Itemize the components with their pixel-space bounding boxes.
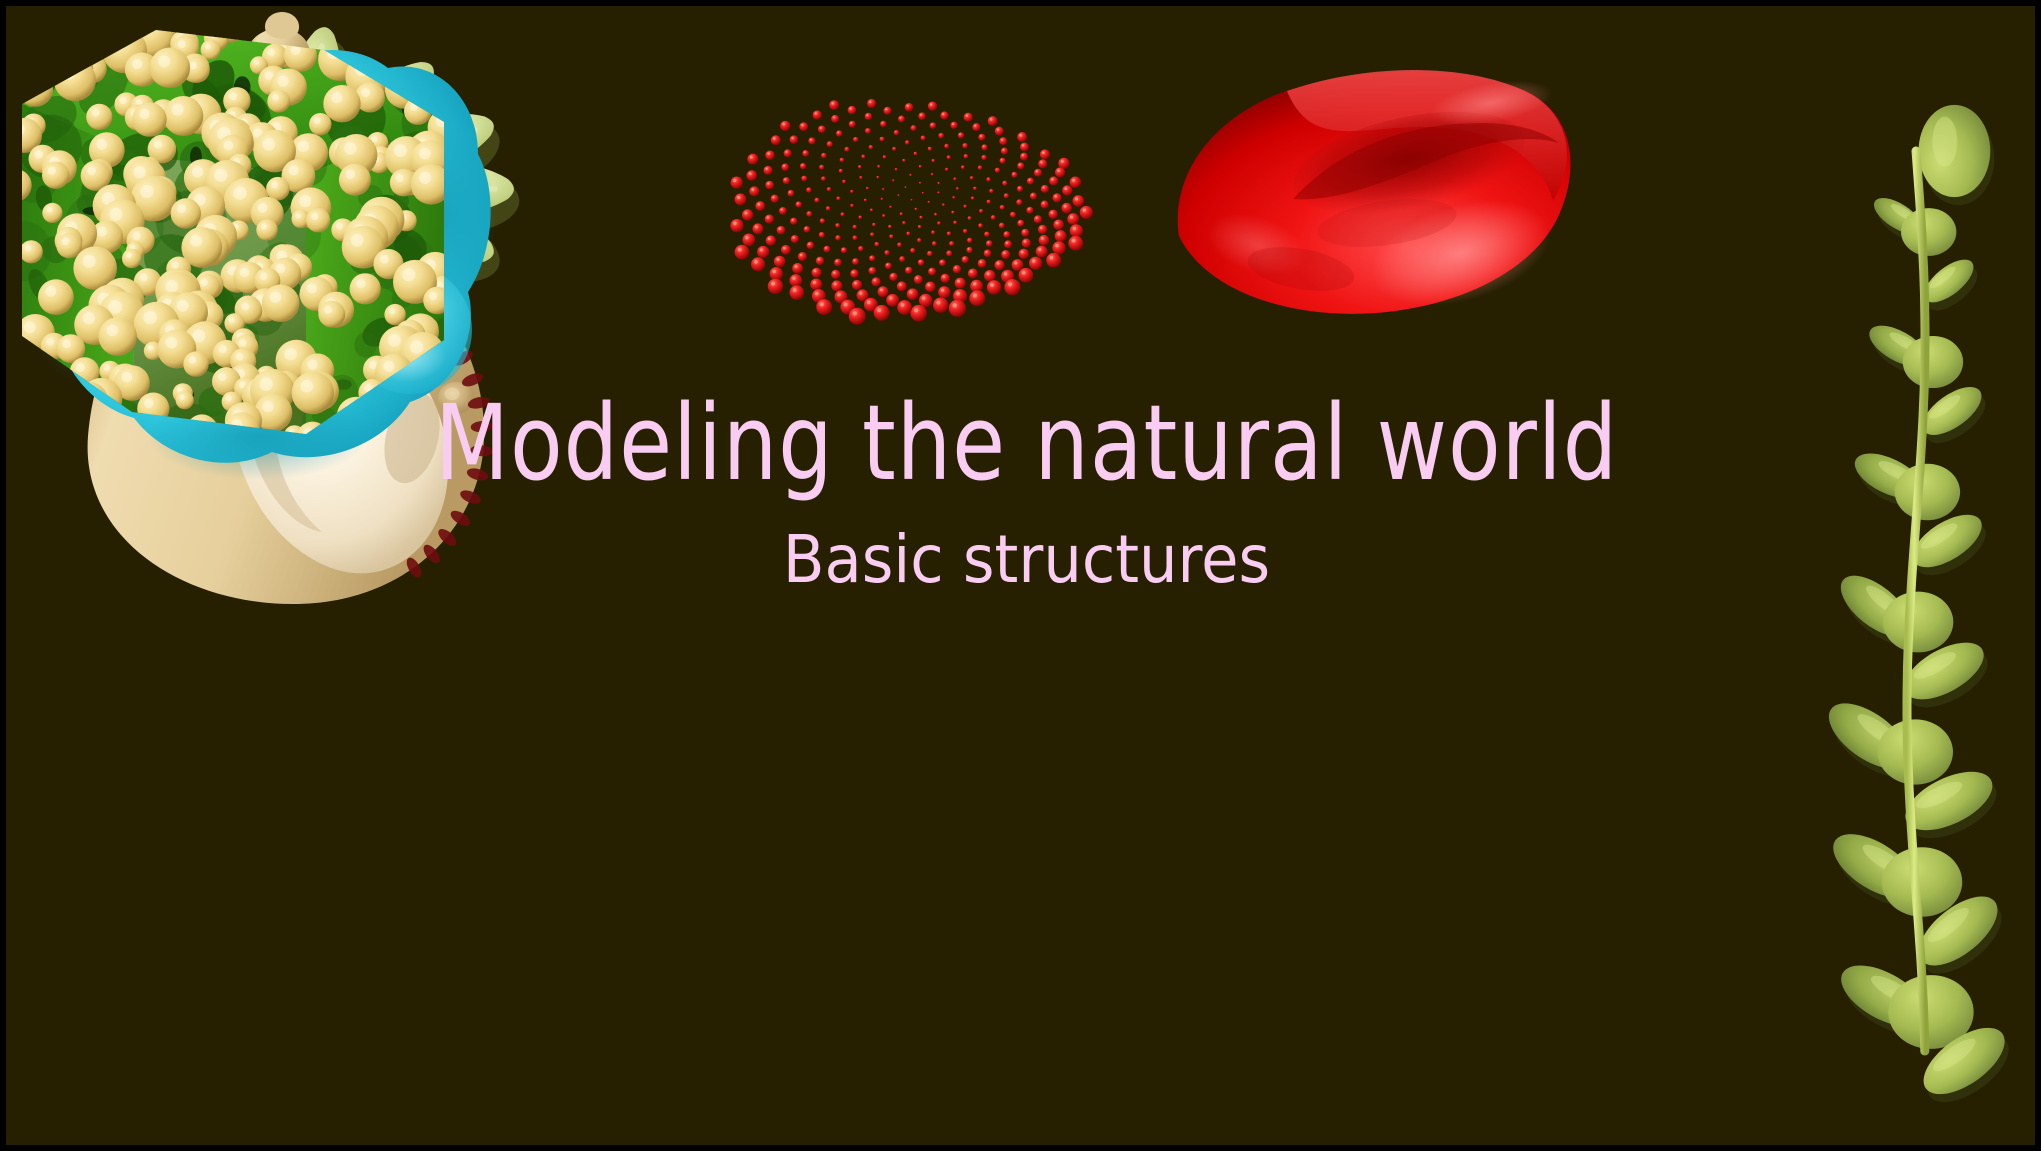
phyllotaxis-sphere-highlight (800, 254, 802, 256)
phyllotaxis-sphere (735, 194, 747, 206)
phyllotaxis-sphere (1029, 257, 1042, 270)
phyllotaxis-sphere-highlight (767, 216, 769, 218)
cube-sphere (67, 12, 98, 43)
phyllotaxis-sphere-highlight (900, 117, 902, 119)
phyllotaxis-sphere (1004, 279, 1020, 295)
phyllotaxis-sphere-highlight (776, 258, 779, 261)
cube-sphere-highlight (372, 29, 380, 37)
cube-sphere-highlight (299, 195, 311, 207)
phyllotaxis-sphere (821, 176, 826, 181)
phyllotaxis-sphere (802, 150, 809, 157)
cube-sphere-highlight (409, 46, 417, 54)
phyllotaxis-sphere (905, 267, 912, 274)
cube-sphere-highlight (400, 21, 409, 30)
phyllotaxis-sphere (910, 248, 915, 253)
phyllotaxis-sphere (871, 277, 880, 286)
phyllotaxis-sphere-highlight (870, 268, 872, 270)
phyllotaxis-sphere (861, 155, 865, 159)
cube-sphere-highlight (44, 33, 51, 40)
phyllotaxis-sphere-highlight (750, 156, 753, 159)
phyllotaxis-sphere (944, 144, 949, 149)
cube-sphere-highlight (393, 77, 405, 89)
phyllotaxis-sphere-highlight (866, 114, 868, 116)
phyllotaxis-sphere (799, 122, 808, 131)
cube-sphere-highlight (96, 139, 107, 150)
phyllotaxis-sphere (931, 173, 934, 176)
phyllotaxis-sphere-highlight (957, 280, 960, 283)
phyllotaxis-sphere-highlight (854, 260, 856, 262)
cube-sphere (262, 284, 300, 322)
phyllotaxis-sphere (1011, 172, 1017, 178)
phyllotaxis-sphere-highlight (1055, 244, 1058, 247)
phyllotaxis-sphere (898, 116, 905, 123)
phyllotaxis-sphere-highlight (751, 188, 754, 191)
phyllotaxis-sphere (859, 216, 862, 219)
cube-sphere (348, 27, 368, 47)
phyllotaxis-sphere-highlight (909, 291, 912, 294)
phyllotaxis-sphere (813, 110, 822, 119)
phyllotaxis-sphere (886, 294, 899, 307)
phyllotaxis-sphere (962, 143, 967, 148)
phyllotaxis-sphere-highlight (1075, 198, 1078, 201)
cube-sphere-highlight (60, 55, 73, 68)
cube-sphere (419, 377, 455, 413)
cube-sphere-highlight (258, 203, 268, 213)
phyllotaxis-sphere-highlight (783, 165, 785, 167)
phyllotaxis-sphere (730, 219, 743, 232)
phyllotaxis-sphere-highlight (813, 281, 816, 284)
cube-sphere-highlight (300, 380, 313, 393)
phyllotaxis-sphere-highlight (959, 133, 961, 135)
phyllotaxis-sphere (781, 163, 789, 171)
phyllotaxis-sphere (1010, 212, 1016, 218)
phyllotaxis-sphere (771, 135, 781, 145)
cube-sphere-highlight (432, 414, 445, 427)
phyllotaxis-sphere-highlight (853, 311, 857, 315)
cube-pore (20, 374, 61, 414)
phyllotaxis-sphere (931, 231, 935, 235)
cube-sphere-highlight (331, 92, 342, 103)
phyllotaxis-sphere-highlight (791, 137, 793, 139)
cube-sphere (18, 71, 54, 107)
phyllotaxis-sphere (765, 181, 774, 190)
phyllotaxis-sphere (881, 198, 883, 200)
cube-sphere-highlight (10, 59, 23, 72)
phyllotaxis-sphere (995, 168, 1000, 173)
cube-sphere-highlight (114, 424, 124, 434)
cube-sphere-highlight (140, 22, 153, 35)
phyllotaxis-sphere (945, 168, 948, 171)
cube-sphere-highlight (291, 45, 301, 55)
phyllotaxis-sphere (919, 216, 922, 219)
cube-sphere (1, 382, 33, 414)
cube-sphere-highlight (172, 261, 179, 268)
cube-pore (390, 44, 437, 92)
phyllotaxis-sphere (841, 247, 847, 253)
phyllotaxis-sphere (928, 147, 932, 151)
cube-sphere (20, 240, 43, 263)
phyllotaxis-sphere (1001, 148, 1008, 155)
phyllotaxis-sphere (981, 155, 986, 160)
cube-sphere-highlight (307, 360, 317, 370)
phyllotaxis-sphere (869, 255, 875, 261)
cube-sphere (419, 58, 462, 101)
phyllotaxis-sphere-highlight (1019, 134, 1022, 137)
cube-sphere (50, 417, 71, 438)
cube-sphere-highlight (205, 44, 211, 50)
cube-sphere-highlight (25, 78, 36, 89)
cube-sphere-highlight (108, 300, 122, 314)
cube-sphere-highlight (261, 223, 267, 229)
phyllotaxis-sphere-highlight (810, 139, 812, 141)
phyllotaxis-sphere-highlight (1018, 187, 1020, 189)
phyllotaxis-sphere-highlight (837, 132, 839, 134)
phyllotaxis-sphere (874, 242, 879, 247)
phyllotaxis-sphere-highlight (854, 282, 857, 285)
cube-sphere (55, 418, 80, 443)
phyllotaxis-sphere-highlight (745, 236, 748, 239)
phyllotaxis-sphere-highlight (955, 267, 957, 269)
phyllotaxis-sphere (1068, 236, 1083, 251)
cube-sphere (386, 14, 411, 39)
cube-sphere (256, 219, 277, 240)
phyllotaxis-sphere-highlight (768, 237, 771, 240)
cube-pore (430, 366, 454, 391)
cube-sphere-highlight (158, 55, 170, 67)
phyllotaxis-sphere (907, 288, 919, 300)
phyllotaxis-sphere-highlight (889, 296, 892, 299)
cube-sphere (334, 411, 372, 449)
phyllotaxis-sphere (783, 177, 790, 184)
cube-sphere-highlight (63, 53, 71, 61)
phyllotaxis-sphere-highlight (887, 264, 889, 266)
cube-sphere (121, 424, 143, 446)
phyllotaxis-sphere (768, 279, 783, 294)
cube-sphere (224, 412, 260, 448)
phyllotaxis-sphere (788, 190, 795, 197)
cube-sphere-highlight (289, 165, 299, 175)
cube-sphere-highlight (144, 399, 154, 409)
phyllotaxis-sphere-highlight (805, 227, 807, 229)
phyllotaxis-sphere-highlight (1001, 159, 1003, 161)
phyllotaxis-sphere (829, 100, 839, 110)
cube-sphere-highlight (97, 227, 107, 237)
cube-sphere-highlight (327, 46, 340, 59)
cube-sphere-highlight (189, 356, 197, 364)
cube-sphere-highlight (361, 88, 370, 97)
cube-sphere-highlight (295, 213, 301, 219)
cube-sphere-highlight (25, 245, 32, 252)
phyllotaxis-sphere (853, 137, 858, 142)
phyllotaxis-sphere (801, 176, 807, 182)
phyllotaxis-sphere (1039, 235, 1050, 246)
phyllotaxis-sphere (911, 125, 917, 131)
cube-sphere-highlight (307, 283, 317, 293)
phyllotaxis-sphere (979, 209, 983, 213)
cube-sphere (318, 301, 345, 328)
phyllotaxis-sphere-highlight (990, 118, 993, 121)
phyllotaxis-sphere (827, 141, 833, 147)
phyllotaxis-sphere (878, 286, 889, 297)
cube-pore (0, 365, 51, 404)
phyllotaxis-sphere (839, 169, 843, 173)
phyllotaxis-sphere (1017, 162, 1024, 169)
phyllotaxis-sphere-highlight (997, 128, 999, 130)
cube-sphere-highlight (107, 325, 119, 337)
cube-sphere-highlight (119, 420, 129, 430)
phyllotaxis-sphere (747, 154, 758, 165)
phyllotaxis-sphere (790, 135, 798, 143)
phyllotaxis-sphere (867, 99, 876, 108)
cube-sphere-highlight (122, 372, 133, 383)
phyllotaxis-sphere (1067, 213, 1079, 225)
cube-sphere (372, 13, 401, 42)
phyllotaxis-sphere-highlight (772, 196, 774, 198)
phyllotaxis-sphere-highlight (874, 279, 876, 281)
phyllotaxis-sphere (918, 259, 924, 265)
phyllotaxis-sphere (897, 242, 902, 247)
phyllotaxis-sphere (735, 245, 750, 260)
cube-sphere (296, 422, 328, 454)
phyllotaxis-sphere (1070, 224, 1083, 237)
phyllotaxis-sphere (928, 201, 930, 203)
phyllotaxis-sphere (882, 188, 884, 190)
cube-sphere-highlight (154, 429, 161, 436)
phyllotaxis-sphere-highlight (1005, 232, 1007, 234)
cube-sphere (423, 287, 451, 315)
phyllotaxis-sphere (877, 176, 880, 179)
phyllotaxis-sphere-highlight (1038, 248, 1041, 251)
phyllotaxis-sphere (921, 136, 926, 141)
phyllotaxis-sphere (938, 133, 944, 139)
phyllotaxis-sphere-highlight (801, 124, 803, 126)
cube-sphere-highlight (108, 424, 122, 438)
phyllotaxis-sphere (900, 212, 903, 215)
phyllotaxis-sphere-highlight (877, 308, 881, 312)
cube-sphere-highlight (352, 31, 358, 37)
phyllotaxis-sphere (883, 107, 891, 115)
cube-sphere (42, 203, 62, 223)
cube-sphere (42, 162, 69, 189)
phyllotaxis-sphere-highlight (1061, 160, 1064, 163)
cube-sphere (358, 21, 396, 59)
phyllotaxis-sphere (978, 134, 985, 141)
phyllotaxis-sphere (999, 223, 1005, 229)
phyllotaxis-sphere (765, 214, 774, 223)
phyllotaxis-sphere (749, 186, 759, 196)
phyllotaxis-sphere (808, 137, 815, 144)
phyllotaxis-sphere (779, 207, 787, 215)
phyllotaxis-sphere-highlight (792, 277, 795, 280)
phyllotaxis-sphere (850, 269, 858, 277)
phyllotaxis-sphere (987, 200, 991, 204)
phyllotaxis-sphere-highlight (797, 203, 799, 205)
cube-sphere-highlight (288, 429, 294, 435)
phyllotaxis-sphere (927, 251, 932, 256)
cube-sphere-highlight (351, 234, 364, 247)
phyllotaxis-sphere (978, 259, 987, 268)
phyllotaxis-sphere (858, 246, 863, 251)
phyllotaxis-sphere-highlight (808, 243, 810, 245)
phyllotaxis-sphere (1002, 181, 1007, 186)
cube-sphere-highlight (419, 66, 429, 76)
phyllotaxis-sphere (909, 174, 911, 176)
cube-sphere-highlight (427, 384, 438, 395)
phyllotaxis-sphere (834, 259, 842, 267)
phyllotaxis-sphere-highlight (738, 248, 742, 252)
phyllotaxis-sphere (988, 116, 998, 126)
phyllotaxis-sphere-highlight (891, 274, 893, 276)
cube-sphere-highlight (342, 424, 350, 432)
cube-sphere (387, 412, 411, 436)
phyllotaxis-sphere-highlight (818, 258, 820, 260)
phyllotaxis-sphere (872, 223, 876, 227)
phyllotaxis-sphere (937, 182, 939, 184)
phyllotaxis-sphere (947, 155, 951, 159)
cube-sphere-highlight (48, 167, 56, 175)
cube-sphere (99, 416, 144, 461)
phyllotaxis-sphere (1021, 229, 1029, 237)
phyllotaxis-sphere-highlight (792, 219, 794, 221)
phyllotaxis-sphere (835, 223, 840, 228)
phyllotaxis-sphere-highlight (1073, 227, 1076, 230)
phyllotaxis-sphere (1022, 238, 1031, 247)
phyllotaxis-sphere-highlight (783, 247, 786, 250)
cube-sphere-highlight (165, 280, 178, 293)
cube-sphere-highlight (193, 420, 203, 430)
phyllotaxis-sphere (953, 265, 961, 273)
phyllotaxis-sphere-highlight (942, 113, 944, 115)
phyllotaxis-sphere-highlight (771, 282, 775, 286)
cube-sphere (57, 48, 83, 74)
phyllotaxis-sphere-highlight (1024, 240, 1026, 242)
cube-sphere-highlight (418, 418, 424, 424)
cube-sphere-highlight (190, 235, 202, 247)
cube-sphere-highlight (429, 292, 437, 300)
phyllotaxis-sphere (777, 226, 786, 235)
phyllotaxis-sphere-highlight (980, 135, 982, 137)
phyllotaxis-sphere-highlight (1013, 173, 1015, 175)
phyllotaxis-sphere (1070, 177, 1081, 188)
phyllotaxis-sphere (821, 153, 827, 159)
phyllotaxis-sphere-highlight (952, 123, 954, 125)
phyllotaxis-sphere-highlight (1072, 179, 1075, 182)
phyllotaxis-sphere-highlight (1036, 170, 1038, 172)
phyllotaxis-sphere (1003, 231, 1010, 238)
cube-sphere (414, 414, 433, 433)
cube-sphere (163, 96, 203, 136)
cube-sphere-highlight (366, 28, 378, 40)
cube-sphere-highlight (233, 187, 246, 200)
phyllotaxis-sphere-highlight (870, 256, 872, 258)
cube-sphere-highlight (126, 428, 132, 434)
phyllotaxis-sphere (742, 209, 753, 220)
phyllotaxis-sphere (870, 209, 873, 212)
cube-sphere (267, 90, 290, 113)
phyllotaxis-sphere (731, 176, 743, 188)
phyllotaxis-sphere-highlight (1040, 227, 1042, 229)
cube-sphere-highlight (344, 142, 357, 155)
phyllotaxis-sphere (866, 187, 869, 190)
specimen-red-blood-cell (1161, 31, 1581, 326)
phyllotaxis-sphere (1017, 220, 1024, 227)
phyllotaxis-sphere-highlight (1022, 144, 1024, 146)
phyllotaxis-sphere-highlight (867, 301, 871, 305)
cube-sphere-highlight (303, 428, 313, 438)
phyllotaxis-sphere (919, 294, 932, 307)
phyllotaxis-sphere-highlight (1004, 272, 1007, 275)
phyllotaxis-sphere (774, 256, 786, 268)
phyllotaxis-sphere (789, 285, 804, 300)
phyllotaxis-sphere (987, 280, 1001, 294)
phyllotaxis-sphere (1034, 169, 1042, 177)
phyllotaxis-sphere (852, 258, 859, 265)
phyllotaxis-sphere (771, 195, 779, 203)
phyllotaxis-sphere-highlight (1006, 242, 1008, 244)
phyllotaxis-sphere (889, 235, 893, 239)
cube-sphere-highlight (229, 92, 237, 100)
phyllotaxis-sphere-highlight (1064, 205, 1067, 208)
phyllotaxis-sphere (934, 213, 937, 216)
phyllotaxis-sphere (937, 221, 940, 224)
cube-pore (123, 427, 140, 448)
cube-sphere (385, 70, 424, 109)
phyllotaxis-sphere-highlight (1028, 208, 1030, 210)
phyllotaxis-sphere-highlight (737, 196, 740, 199)
phyllotaxis-sphere-highlight (983, 146, 985, 148)
vine-leaf-sheen (1932, 117, 1957, 167)
phyllotaxis-sphere-highlight (931, 124, 933, 126)
cube-sphere (186, 414, 218, 446)
phyllotaxis-sphere (968, 268, 978, 278)
cube-sphere (33, 45, 65, 77)
specimen-phyllotaxis-spiral (626, 91, 1046, 341)
phyllotaxis-sphere (1016, 199, 1022, 205)
cube-sphere-highlight (219, 13, 230, 24)
cube-sphere-highlight (55, 421, 61, 427)
phyllotaxis-sphere (899, 256, 905, 262)
vine-leaf-group (1818, 105, 2020, 1115)
phyllotaxis-sphere (827, 187, 831, 191)
phyllotaxis-sphere (853, 235, 858, 240)
phyllotaxis-sphere (892, 147, 896, 151)
cube-sphere-highlight (69, 62, 78, 71)
phyllotaxis-sphere-highlight (936, 301, 940, 305)
phyllotaxis-sphere (964, 154, 969, 159)
cube-sphere-highlight (34, 150, 43, 159)
cube-sphere (65, 34, 98, 67)
cube-sphere-highlight (389, 308, 395, 314)
phyllotaxis-sphere (853, 225, 857, 229)
phyllotaxis-sphere-highlight (1023, 230, 1025, 232)
cube-sphere-highlight (76, 363, 85, 372)
phyllotaxis-sphere-highlight (880, 288, 883, 291)
phyllotaxis-sphere-highlight (852, 271, 854, 273)
phyllotaxis-sphere-highlight (953, 303, 957, 307)
cube-sphere-highlight (242, 303, 250, 311)
phyllotaxis-sphere-highlight (755, 226, 758, 229)
cube-sphere-highlight (419, 172, 431, 184)
phyllotaxis-sphere (889, 273, 897, 281)
phyllotaxis-sphere-highlight (1022, 154, 1024, 156)
cube-sphere-highlight (262, 138, 275, 151)
cube-sphere-highlight (441, 30, 449, 38)
phyllotaxis-sphere (831, 115, 839, 123)
phyllotaxis-sphere (939, 259, 946, 266)
cube-sphere-highlight (40, 51, 50, 61)
phyllotaxis-sphere-highlight (1083, 209, 1086, 212)
cube-sphere-highlight (148, 345, 154, 351)
